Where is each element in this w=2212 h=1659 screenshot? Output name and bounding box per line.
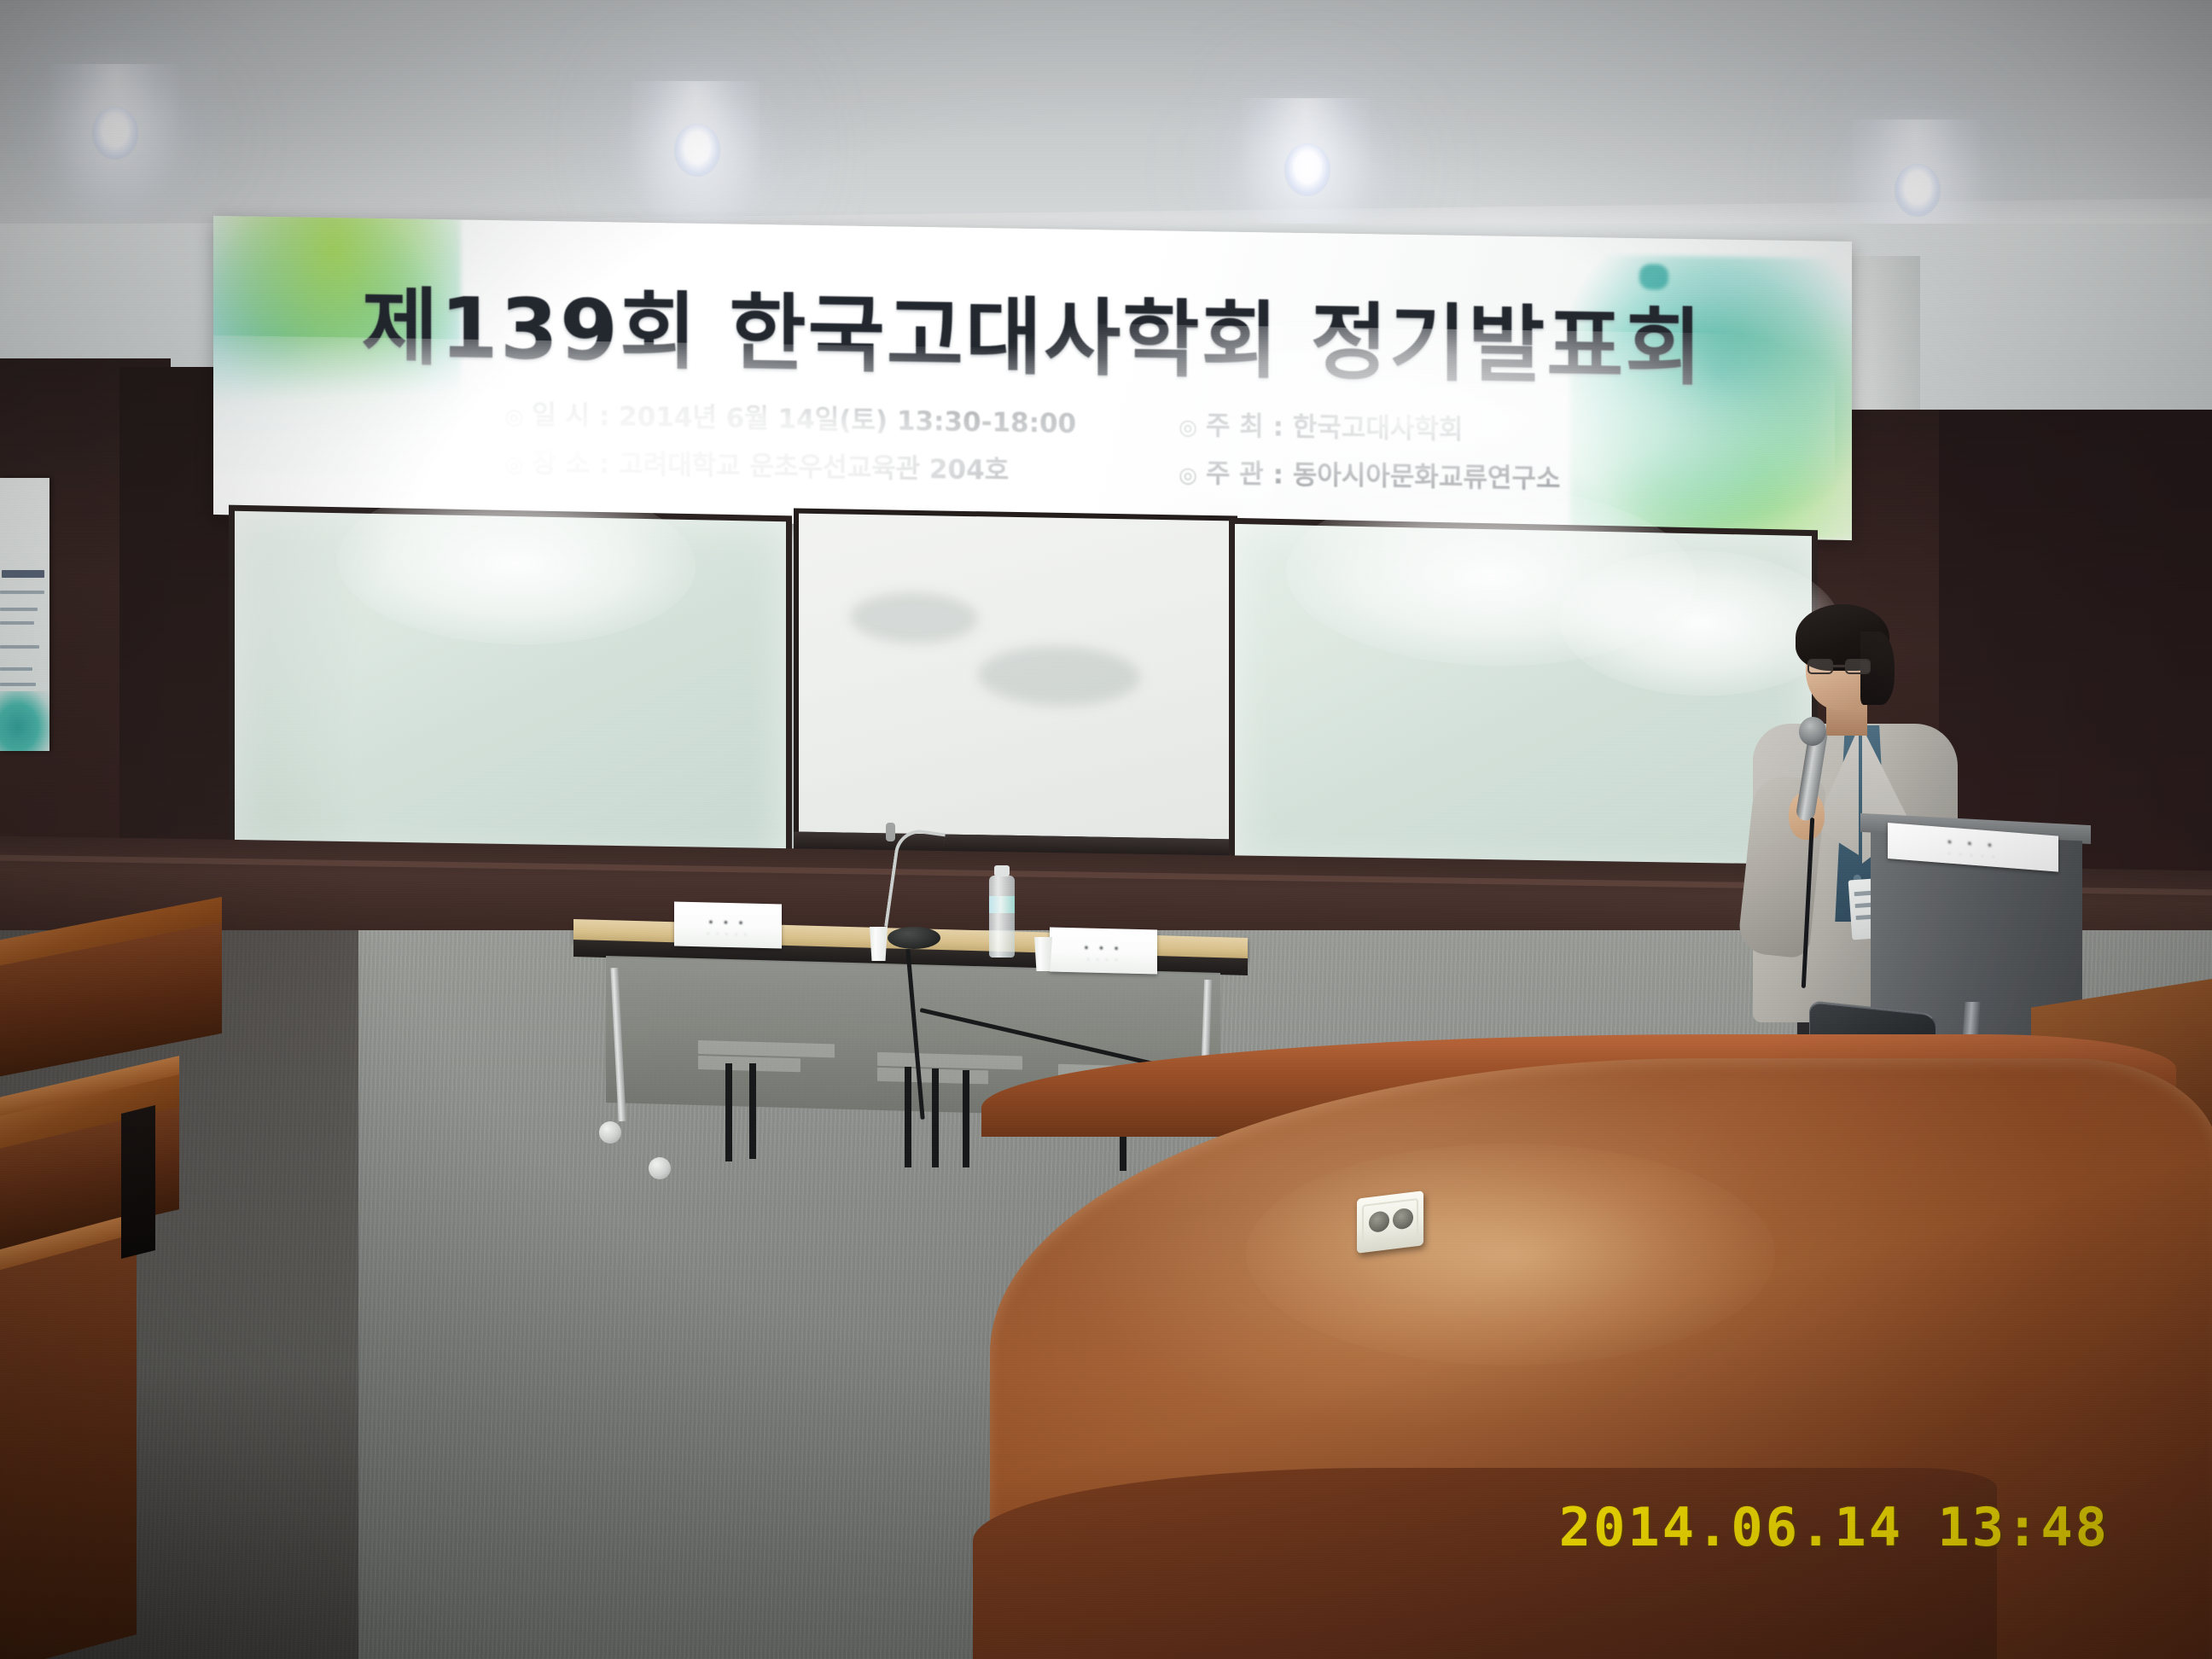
banner-line-datetime: ◎일 시 : 2014년 6월 14일(토) 13:30-18:00: [504, 393, 1076, 440]
water-bottle: [989, 876, 1015, 958]
banner-subtitle-left: ◎일 시 : 2014년 6월 14일(토) 13:30-18:00 ◎장 소 …: [504, 393, 1076, 496]
banner-title: 제139회 한국고대사학회 정기발표회: [213, 257, 1852, 404]
bullet-marker-icon: ◎: [1179, 463, 1197, 487]
wall-poster: [0, 478, 49, 751]
power-outlet-box[interactable]: [1357, 1190, 1423, 1254]
ceiling-light-1-icon: [92, 107, 138, 160]
event-banner: 제139회 한국고대사학회 정기발표회 ◎일 시 : 2014년 6월 14일(…: [213, 216, 1852, 540]
banner-line-host: ◎주 최 : 한국고대사학회: [1179, 404, 1560, 448]
left-tiered-desks: [0, 922, 307, 1659]
bullet-marker-icon: ◎: [504, 404, 523, 428]
name-placard-left: • • • · · · · ·: [674, 901, 782, 948]
poster-watercolor: [0, 691, 49, 751]
desk-side-shadow: [121, 1105, 155, 1259]
camera-timestamp: 2014.06.14 13:48: [1559, 1496, 2110, 1558]
bullet-marker-icon: ◎: [504, 451, 523, 476]
whiteboard-center: [794, 508, 1237, 844]
name-placard-right: • • • · · · ·: [1050, 927, 1157, 974]
chair-leg-behind: [749, 1063, 756, 1159]
eyeglasses-icon: [1807, 659, 1871, 674]
ceiling-light-3-icon: [1284, 143, 1330, 196]
desk-tier-3-face: [0, 1233, 137, 1659]
banner-line-venue: ◎장 소 : 고려대학교 운초우선교육관 204호: [504, 440, 1076, 488]
chair-leg-behind: [963, 1070, 969, 1167]
microphone-head-icon: [886, 823, 895, 841]
banner-subtitle-right: ◎주 최 : 한국고대사학회 ◎주 관 : 동아시아문화교류연구소: [1179, 404, 1560, 504]
chair-leg-behind: [932, 1068, 939, 1167]
poster-heading: [2, 570, 44, 578]
bottle-cap: [994, 865, 1010, 876]
conference-hall-photo: 제139회 한국고대사학회 정기발표회 ◎일 시 : 2014년 6월 14일(…: [0, 0, 2212, 1659]
ceiling-light-2-icon: [674, 124, 720, 177]
projection-screen-left: [229, 505, 792, 873]
chair-leg-behind: [725, 1063, 732, 1161]
ceiling-light-4-icon: [1895, 164, 1941, 217]
bullet-marker-icon: ◎: [1179, 415, 1197, 439]
banner-line-organizer: ◎주 관 : 동아시아문화교류연구소: [1179, 451, 1560, 496]
chair-leg-behind: [905, 1067, 911, 1167]
banner-subtitle-block: ◎일 시 : 2014년 6월 14일(토) 13:30-18:00 ◎장 소 …: [213, 388, 1852, 508]
table-caster: [649, 1157, 671, 1179]
curved-audience-desk: [990, 990, 2212, 1659]
bottle-label: [989, 896, 1015, 913]
table-caster: [599, 1121, 621, 1144]
microphone-base: [888, 927, 940, 949]
